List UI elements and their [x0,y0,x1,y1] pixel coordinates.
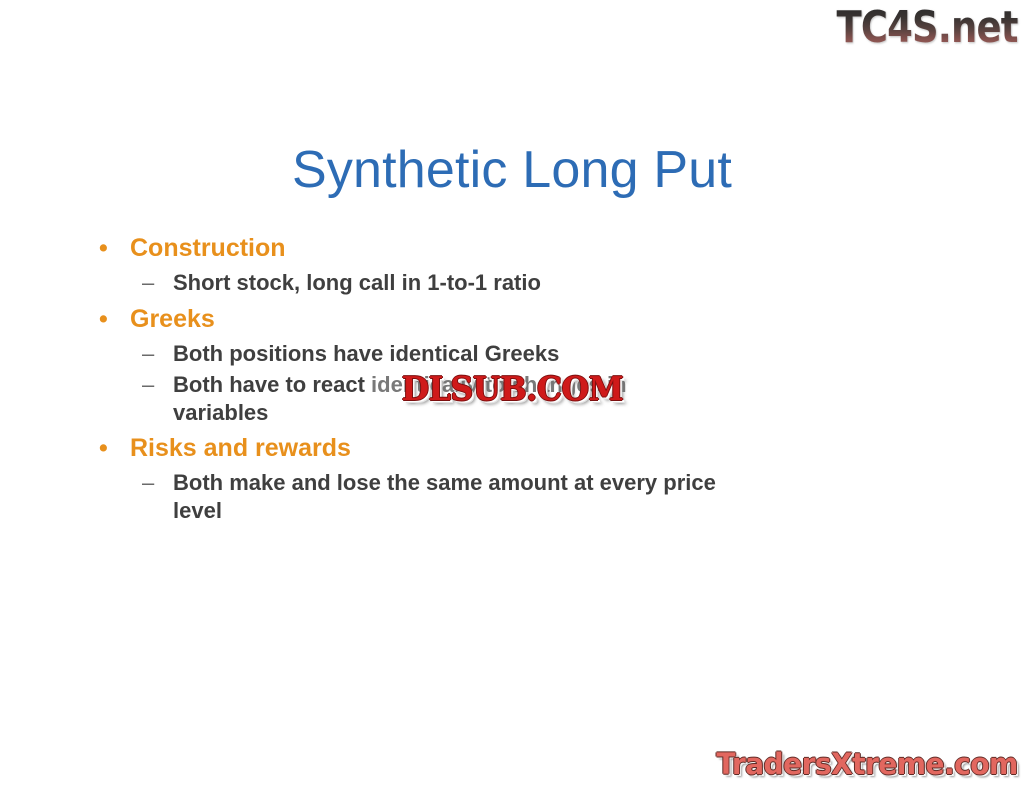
bullet-dot-icon: • [99,303,108,336]
bullet-group-construction: • Construction – Short stock, long call … [88,232,728,297]
presentation-slide: TC4S.net Synthetic Long Put • Constructi… [0,0,1024,791]
tc4s-logo-text: TC4S.net [837,6,1018,50]
dash-marker-icon: – [142,269,154,297]
dash-marker-icon: – [142,371,154,399]
bullet-heading-label: Construction [130,234,286,262]
bullet-dot-icon: • [99,432,108,465]
sub-bullet-label: Short stock, long call in 1-to-1 ratio [173,270,541,295]
page-title: Synthetic Long Put [0,143,1024,198]
tc4s-brand-logo: TC4S.net [818,0,1018,56]
bullet-heading-risks-and-rewards: • Risks and rewards [88,432,728,465]
sub-bullet-item: – Short stock, long call in 1-to-1 ratio [88,269,728,297]
tradersxtreme-footer-watermark: TradersXtreme.com [712,742,1018,786]
bullet-dot-icon: • [99,232,108,265]
dash-marker-icon: – [142,340,154,368]
sub-bullet-label: Both positions have identical Greeks [173,341,559,366]
tradersxtreme-watermark-text: TradersXtreme.com [717,750,1018,779]
sub-bullet-label: Both make and lose the same amount at ev… [173,470,716,523]
bullet-heading-construction: • Construction [88,232,728,265]
dash-marker-icon: – [142,469,154,497]
sub-bullet-item: – Both positions have identical Greeks [88,340,728,368]
bullet-heading-label: Greeks [130,305,215,333]
dlsub-overlay-watermark: DLSUB.COM [366,366,658,410]
sub-bullet-item: – Both make and lose the same amount at … [88,469,728,525]
bullet-heading-label: Risks and rewards [130,434,351,462]
bullet-group-risks-and-rewards: • Risks and rewards – Both make and lose… [88,432,728,525]
dlsub-watermark-text: DLSUB.COM [401,372,623,405]
bullet-heading-greeks: • Greeks [88,303,728,336]
